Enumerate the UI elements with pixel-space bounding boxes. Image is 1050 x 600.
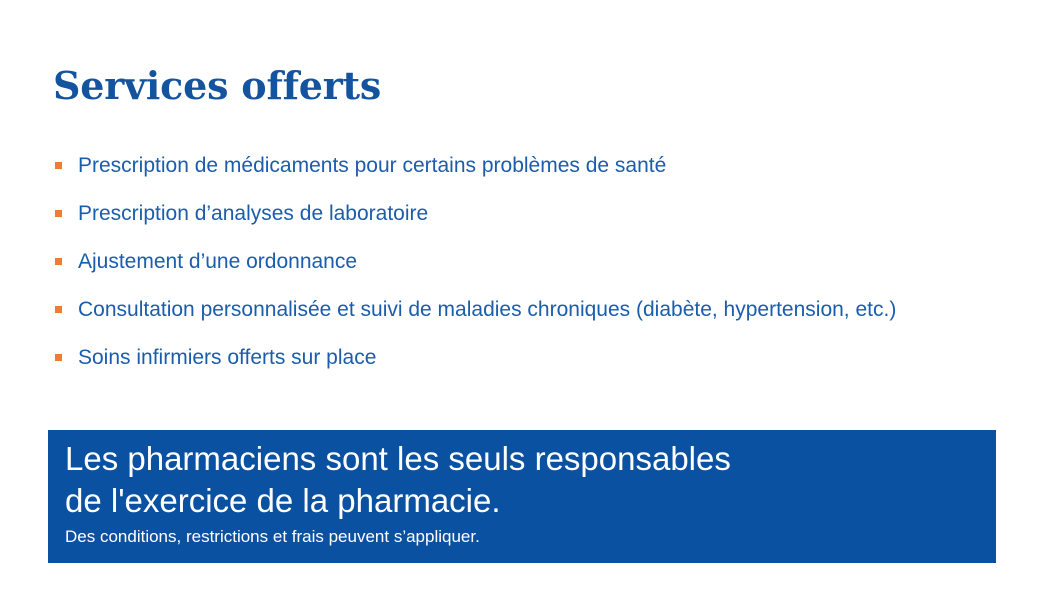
- list-item-label: Prescription de médicaments pour certain…: [78, 153, 666, 179]
- list-item: Ajustement d’une ordonnance: [53, 238, 1033, 286]
- list-item: Soins infirmiers offerts sur place: [53, 334, 1033, 382]
- services-bullet-list: Prescription de médicaments pour certain…: [53, 142, 1033, 382]
- square-bullet-icon: [55, 354, 62, 361]
- square-bullet-icon: [55, 210, 62, 217]
- list-item: Consultation personnalisée et suivi de m…: [53, 286, 1033, 334]
- list-item-label: Consultation personnalisée et suivi de m…: [78, 297, 896, 323]
- square-bullet-icon: [55, 306, 62, 313]
- list-item: Prescription d’analyses de laboratoire: [53, 190, 1033, 238]
- callout-heading-line-2: de l'exercice de la pharmacie.: [65, 480, 996, 522]
- callout-box: Les pharmaciens sont les seuls responsab…: [48, 430, 996, 563]
- square-bullet-icon: [55, 258, 62, 265]
- square-bullet-icon: [55, 162, 62, 169]
- slide: Services offerts Prescription de médicam…: [0, 0, 1050, 600]
- list-item-label: Soins infirmiers offerts sur place: [78, 345, 376, 371]
- page-title: Services offerts: [53, 62, 381, 110]
- list-item: Prescription de médicaments pour certain…: [53, 142, 1033, 190]
- callout-heading-line-1: Les pharmaciens sont les seuls responsab…: [65, 438, 996, 480]
- list-item-label: Ajustement d’une ordonnance: [78, 249, 357, 275]
- callout-note: Des conditions, restrictions et frais pe…: [65, 525, 996, 549]
- list-item-label: Prescription d’analyses de laboratoire: [78, 201, 428, 227]
